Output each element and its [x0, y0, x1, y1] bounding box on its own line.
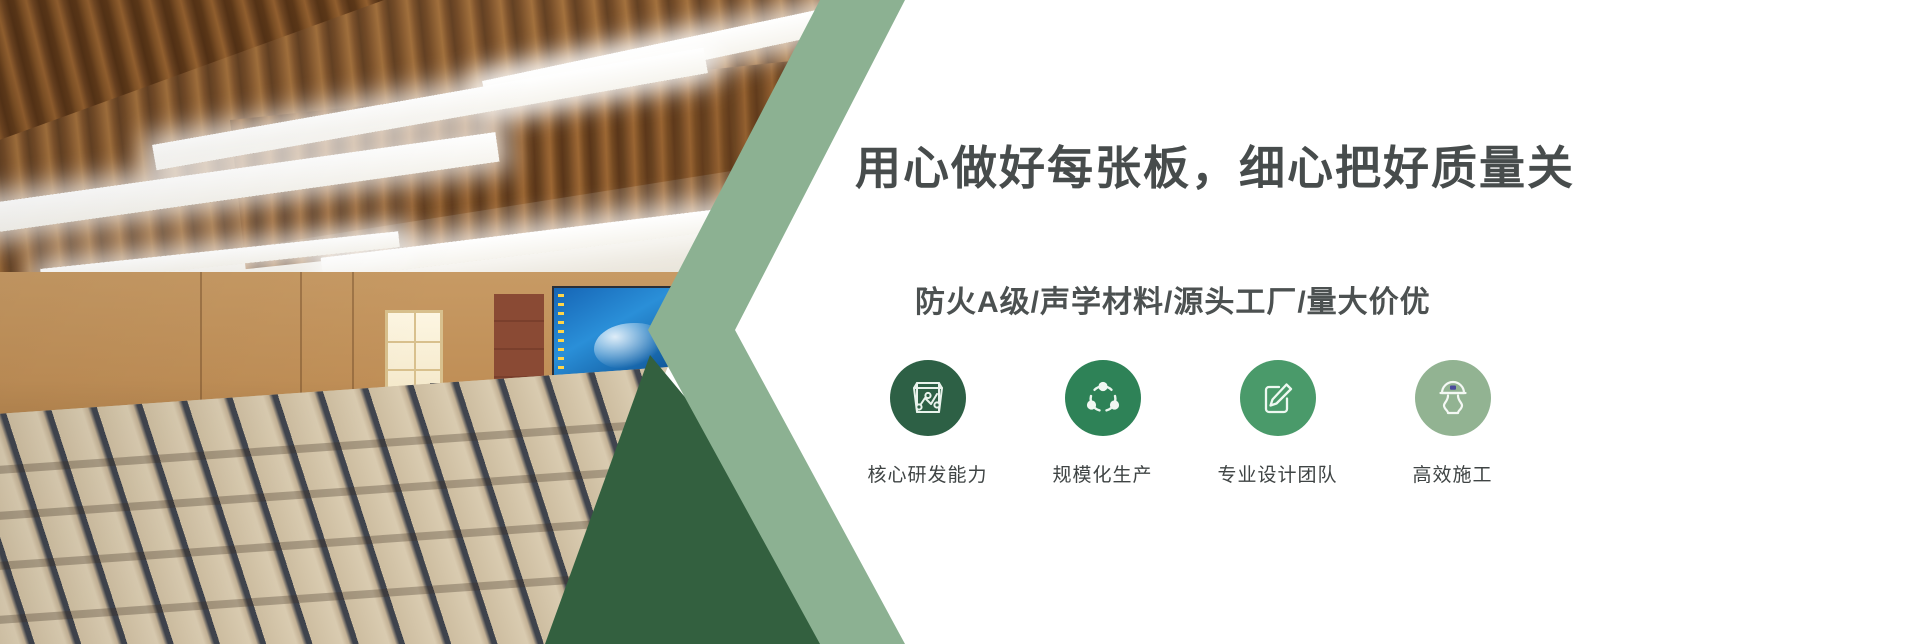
- feature-label: 规模化生产: [1052, 460, 1152, 487]
- feature-item-design[interactable]: 专业设计团队: [1190, 360, 1365, 487]
- feature-label: 专业设计团队: [1217, 460, 1337, 487]
- promo-banner: 用心做好每张板，细心把好质量关 防火A级/声学材料/源头工厂/量大价优: [0, 0, 1920, 644]
- feature-item-rnd[interactable]: 核心研发能力: [840, 360, 1015, 487]
- feature-label: 高效施工: [1412, 460, 1492, 487]
- feature-list: 核心研发能力 规模化生产: [840, 360, 1540, 487]
- edit-pencil-square-icon: [1240, 360, 1316, 436]
- share-network-icon: [1065, 360, 1141, 436]
- feature-label: 核心研发能力: [867, 460, 987, 487]
- banner-content: 用心做好每张板，细心把好质量关 防火A级/声学材料/源头工厂/量大价优: [830, 0, 1920, 644]
- feature-item-production[interactable]: 规模化生产: [1015, 360, 1190, 487]
- banner-headline: 用心做好每张板，细心把好质量关: [855, 132, 1575, 198]
- rnd-box-graph-icon: [890, 360, 966, 436]
- hardhat-worker-icon: [1415, 360, 1491, 436]
- banner-subheadline: 防火A级/声学材料/源头工厂/量大价优: [915, 277, 1431, 321]
- feature-item-construction[interactable]: 高效施工: [1365, 360, 1540, 487]
